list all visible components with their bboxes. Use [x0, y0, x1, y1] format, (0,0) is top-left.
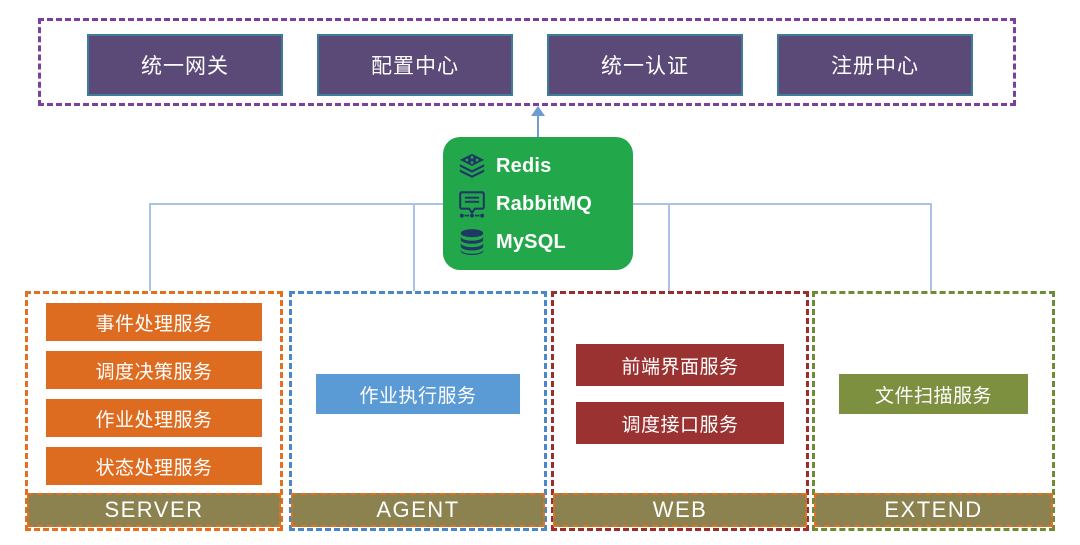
service-label: 事件处理服务 — [95, 309, 212, 336]
middleware-group: Redis RabbitMQ — [443, 137, 633, 270]
middleware-item-redis[interactable]: Redis — [457, 147, 633, 185]
platform-box-config-center[interactable]: 配置中心 — [317, 34, 513, 96]
service-box-schedule-decision[interactable]: 调度决策服务 — [46, 351, 262, 389]
connector-horizontal-right — [632, 203, 932, 205]
module-label-text: AGENT — [376, 497, 459, 523]
module-label-server: SERVER — [27, 493, 281, 527]
module-column-server: 事件处理服务 调度决策服务 作业处理服务 状态处理服务 SERVER — [25, 291, 283, 531]
service-box-schedule-api[interactable]: 调度接口服务 — [576, 402, 784, 444]
service-label: 前端界面服务 — [621, 352, 738, 379]
service-label: 调度接口服务 — [621, 410, 738, 437]
module-column-web: 前端界面服务 调度接口服务 WEB — [551, 291, 809, 531]
module-label-agent: AGENT — [291, 493, 545, 527]
service-box-job-execution[interactable]: 作业执行服务 — [316, 374, 520, 414]
service-label: 文件扫描服务 — [875, 381, 992, 408]
service-box-file-scan[interactable]: 文件扫描服务 — [839, 374, 1028, 414]
database-cylinder-icon — [457, 227, 487, 257]
connector-vertical-web — [668, 203, 670, 293]
layers-stack-icon — [457, 151, 487, 181]
middleware-label: RabbitMQ — [496, 193, 592, 216]
service-box-event-processing[interactable]: 事件处理服务 — [46, 303, 262, 341]
platform-box-registry[interactable]: 注册中心 — [777, 34, 973, 96]
service-box-state-processing[interactable]: 状态处理服务 — [46, 447, 262, 485]
middleware-label: Redis — [496, 155, 551, 178]
module-column-agent: 作业执行服务 AGENT — [289, 291, 547, 531]
service-box-frontend-ui[interactable]: 前端界面服务 — [576, 344, 784, 386]
connector-vertical-extend — [930, 203, 932, 293]
connector-vertical-agent — [413, 203, 415, 293]
message-queue-icon — [457, 189, 487, 219]
middleware-item-rabbitmq[interactable]: RabbitMQ — [457, 185, 633, 223]
service-box-job-processing[interactable]: 作业处理服务 — [46, 399, 262, 437]
architecture-diagram: 统一网关 配置中心 统一认证 注册中心 — [0, 0, 1080, 545]
module-label-web: WEB — [553, 493, 807, 527]
module-label-text: EXTEND — [884, 497, 982, 523]
platform-box-gateway[interactable]: 统一网关 — [87, 34, 283, 96]
uplink-arrow-icon — [531, 106, 545, 116]
module-label-text: SERVER — [104, 497, 203, 523]
platform-layer-group: 统一网关 配置中心 统一认证 注册中心 — [38, 18, 1016, 106]
platform-box-label: 注册中心 — [831, 50, 919, 80]
middleware-label: MySQL — [496, 231, 566, 254]
module-column-extend: 文件扫描服务 EXTEND — [812, 291, 1055, 531]
platform-box-auth[interactable]: 统一认证 — [547, 34, 743, 96]
service-label: 调度决策服务 — [95, 357, 212, 384]
module-label-extend: EXTEND — [814, 493, 1053, 527]
service-label: 作业处理服务 — [95, 405, 212, 432]
service-label: 状态处理服务 — [95, 453, 212, 480]
platform-box-label: 配置中心 — [371, 50, 459, 80]
platform-box-label: 统一认证 — [601, 50, 689, 80]
module-label-text: WEB — [653, 497, 708, 523]
platform-box-label: 统一网关 — [141, 50, 229, 80]
connector-vertical-server — [149, 203, 151, 293]
connector-horizontal-left — [149, 203, 444, 205]
service-label: 作业执行服务 — [359, 381, 476, 408]
middleware-item-mysql[interactable]: MySQL — [457, 223, 633, 261]
